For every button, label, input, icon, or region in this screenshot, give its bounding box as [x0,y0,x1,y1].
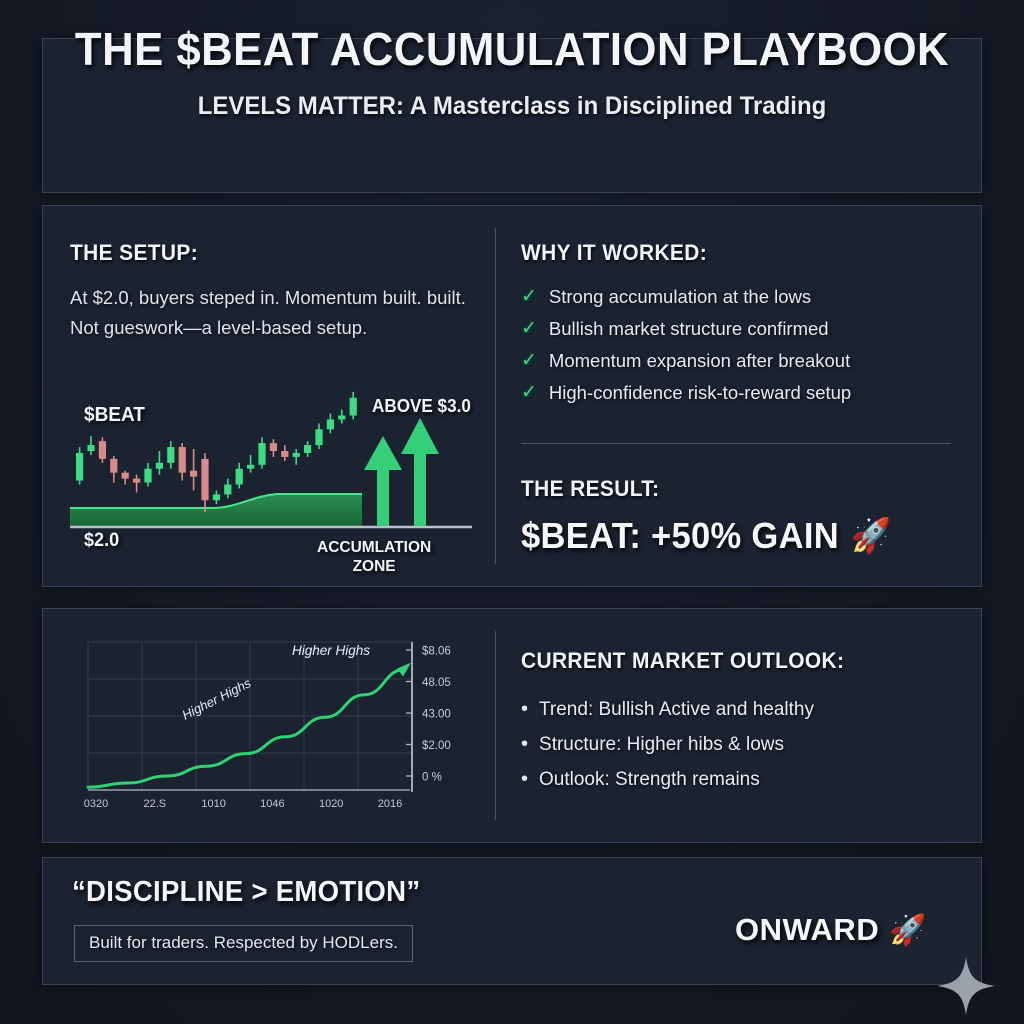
outlook-item-label: Outlook: Strength remains [539,765,760,794]
why-checklist: ✓Strong accumulation at the lows✓Bullish… [521,283,951,411]
candle-body [167,447,174,463]
candle-body [270,443,277,451]
annotation-higher-highs-2: Higher Highs [292,643,370,658]
x-tick-labels: 032022.S1010104610202016 [84,798,402,810]
sparkle-star-icon [935,955,997,1017]
onward-row: ONWARD 🚀 [735,912,927,948]
outlook-item: •Outlook: Strength remains [521,765,941,794]
why-item-label: High-confidence risk-to-reward setup [549,379,851,406]
x-tick-label: 1010 [201,798,225,810]
candle-body [350,398,357,416]
why-heading: WHY IT WORKED: [521,240,707,266]
y-tick-label: $8.06 [422,646,451,658]
x-tick-label: 22.S [143,798,166,810]
y-tick-label: $2.00 [422,740,451,752]
page-subtitle: LEVELS MATTER: A Masterclass in Discipli… [20,92,1003,121]
candle-body [338,416,345,420]
candle-body [190,471,197,477]
candle-body [293,453,300,457]
outlook-item: •Trend: Bullish Active and healthy [521,695,941,724]
candle-body [110,459,117,473]
y-tick-label: 0 % [422,772,442,784]
x-tick-label: 0320 [84,798,108,810]
bullet-dot-icon: • [521,730,528,759]
x-tick-label: 1046 [260,798,284,810]
check-icon: ✓ [521,347,537,374]
rocket-icon: 🚀 [851,516,892,556]
bullet-dot-icon: • [521,765,528,794]
tagline-box: Built for traders. Respected by HODLers. [74,925,413,962]
candle-body [99,441,106,459]
why-item: ✓Bullish market structure confirmed [521,315,951,342]
setup-body-text: At $2.0, buyers steped in. Momentum buil… [70,283,470,343]
outlook-bullets: •Trend: Bullish Active and healthy•Struc… [521,695,941,800]
page-title: THE $BEAT ACCUMULATION PLAYBOOK [26,22,999,76]
candle-body [144,469,151,483]
breakout-arrow-1 [364,436,402,526]
candle-body [76,453,83,481]
candle-body [224,485,231,495]
result-heading: THE RESULT: [521,476,659,502]
why-item: ✓Strong accumulation at the lows [521,283,951,310]
candle-body [213,494,220,500]
result-value-row: $BEAT: +50% GAIN 🚀 [521,515,891,557]
y-tick-labels: 0 %$2.0043.0048.05$8.06 [422,646,451,784]
higher-highs-chart: 0 %$2.0043.0048.05$8.06 032022.S10101046… [60,620,500,820]
onward-rocket-icon: 🚀 [889,913,927,948]
candle-body [315,429,322,445]
y-tick-label: 48.05 [422,677,451,689]
candle-body [327,419,334,429]
result-divider [521,443,951,444]
outlook-heading: CURRENT MARKET OUTLOOK: [521,648,844,674]
setup-heading: THE SETUP: [70,240,198,266]
bullet-dot-icon: • [521,695,528,724]
higher-highs-svg: 0 %$2.0043.0048.05$8.06 032022.S10101046… [60,620,500,820]
check-icon: ✓ [521,379,537,406]
candle-body [122,473,129,479]
x-tick-label: 2016 [378,798,402,810]
onward-label: ONWARD [735,912,879,948]
result-value: $BEAT: +50% GAIN [521,515,839,557]
check-icon: ✓ [521,283,537,310]
candle-body [247,465,254,469]
x-tick-label: 1020 [319,798,343,810]
outlook-item-label: Trend: Bullish Active and healthy [539,695,814,724]
why-item: ✓High-confidence risk-to-reward setup [521,379,951,406]
candle-body [156,463,163,469]
outlook-item: •Structure: Higher hibs & lows [521,730,941,759]
why-item: ✓Momentum expansion after breakout [521,347,951,374]
chart-zone-label: ACCUMLATION ZONE [317,538,431,576]
outlook-item-label: Structure: Higher hibs & lows [539,730,784,759]
candle-body [236,469,243,485]
candle-body [179,447,186,473]
why-item-label: Strong accumulation at the lows [549,283,811,310]
candle-body [87,445,94,451]
why-item-label: Bullish market structure confirmed [549,315,829,342]
check-icon: ✓ [521,315,537,342]
candle-body [304,445,311,453]
candle-body [281,451,288,457]
candlestick-chart: $BEAT ABOVE $3.0 $2.0 ACCUMLATION ZONE [62,370,482,580]
footer-quote: “DISCIPLINE > EMOTION” [72,876,420,909]
chart-breakout-label: ABOVE $3.0 [372,396,471,417]
chart-ticker-label: $BEAT [84,404,145,427]
chart-support-label: $2.0 [84,530,119,552]
breakout-arrow-2 [401,418,439,526]
candle-body [201,459,208,500]
chart-gridlines [88,642,412,790]
vertical-divider [495,228,496,564]
y-tick-label: 43.00 [422,709,451,721]
candle-body [133,479,140,483]
infographic-canvas: THE $BEAT ACCUMULATION PLAYBOOK LEVELS M… [0,0,1024,1024]
candle-body [258,443,265,465]
trend-arrowhead [397,663,411,677]
why-item-label: Momentum expansion after breakout [549,347,850,374]
footer-tagline: Built for traders. Respected by HODLers. [89,933,398,952]
